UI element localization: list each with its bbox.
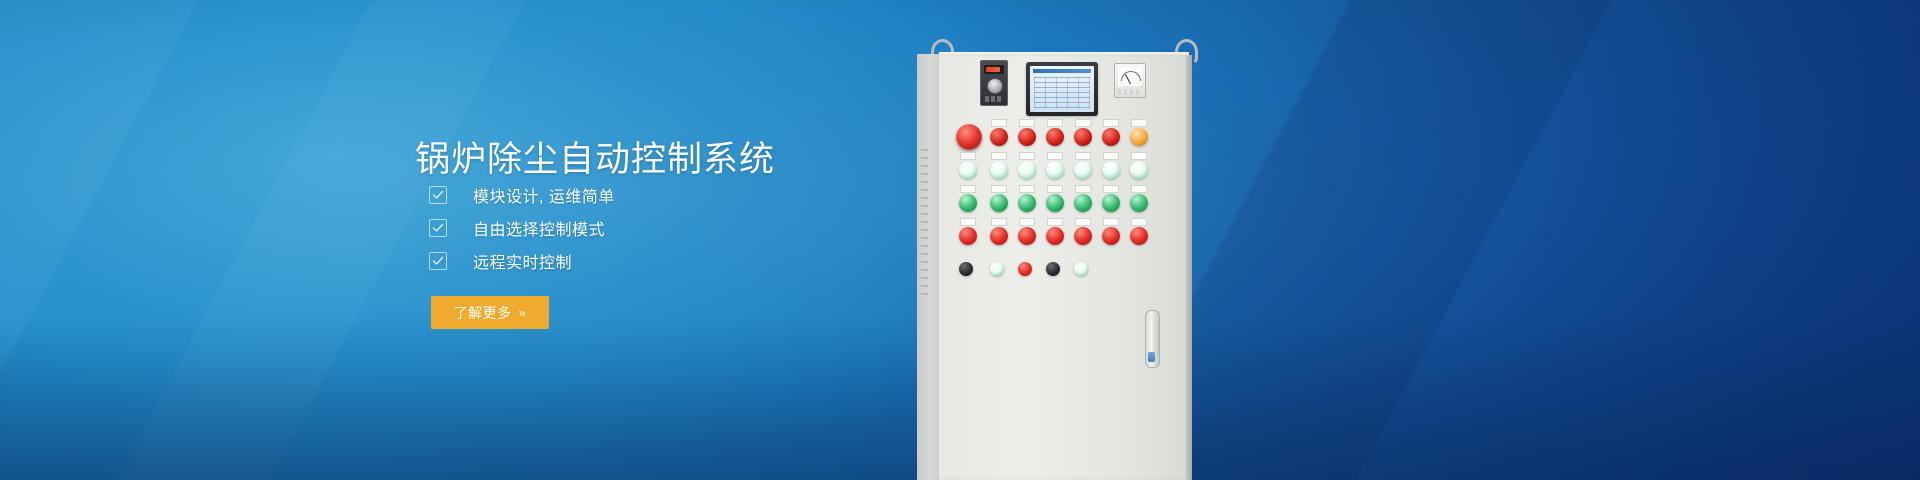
hmi-table-columns — [1034, 77, 1090, 108]
feature-label: 自由选择控制模式 — [473, 216, 605, 240]
indicator-lamp-mint[interactable] — [1046, 161, 1064, 179]
indicator-lamp-mint[interactable] — [1130, 161, 1148, 179]
indicator-lamp-mint[interactable] — [959, 161, 977, 179]
indicator-lamp-red[interactable] — [1102, 128, 1120, 146]
cabinet-side-panel — [917, 54, 939, 480]
indicator-lamp-mint[interactable] — [1018, 161, 1036, 179]
indicator-lamp-red[interactable] — [1046, 227, 1064, 245]
door-handle-lock[interactable] — [1145, 310, 1160, 368]
gauge-scale-arc — [1121, 71, 1141, 81]
banner-content: 锅炉除尘自动控制系统 模块设计, 运维简单 自由选择控制模式 — [415, 0, 935, 480]
indicator-lamp-mint[interactable] — [1074, 262, 1088, 276]
check-square-icon — [429, 252, 447, 270]
emergency-stop-button[interactable] — [956, 124, 982, 150]
indicator-lamp-red[interactable] — [1018, 128, 1036, 146]
learn-more-button[interactable]: 了解更多 » — [431, 296, 549, 329]
inverter-segment-readout — [984, 65, 1004, 74]
feature-label: 模块设计, 运维简单 — [473, 183, 615, 207]
chevron-right-icon: » — [519, 305, 527, 320]
check-square-icon — [429, 186, 447, 204]
indicator-lamp-red[interactable] — [1074, 128, 1092, 146]
inverter-knob-icon — [987, 78, 1003, 94]
lock-icon — [1148, 352, 1155, 362]
indicator-lamp-red[interactable] — [1130, 227, 1148, 245]
feature-label: 远程实时控制 — [473, 249, 572, 273]
indicator-lamp-red[interactable] — [1018, 262, 1032, 276]
indicator-lamp-green[interactable] — [959, 194, 977, 212]
list-item: 自由选择控制模式 — [429, 211, 615, 244]
analog-gauge — [1114, 63, 1146, 98]
check-square-icon — [429, 219, 447, 237]
list-item: 模块设计, 运维简单 — [429, 178, 615, 211]
indicator-lamp-mint[interactable] — [1102, 161, 1120, 179]
indicator-lamp-red[interactable] — [1018, 227, 1036, 245]
feature-list: 模块设计, 运维简单 自由选择控制模式 远程实时控制 — [429, 178, 615, 277]
indicator-lamp-green[interactable] — [1130, 194, 1148, 212]
indicator-lamp-red[interactable] — [990, 227, 1008, 245]
indicator-lamp-green[interactable] — [990, 194, 1008, 212]
indicator-lamp-mint[interactable] — [990, 262, 1004, 276]
indicator-lamp-green[interactable] — [1018, 194, 1036, 212]
indicator-lamp-mint[interactable] — [1074, 161, 1092, 179]
frequency-inverter-display — [980, 60, 1008, 106]
control-cabinet-image — [900, 0, 1360, 480]
indicator-lamp-green[interactable] — [1102, 194, 1120, 212]
indicator-lamp-green[interactable] — [1074, 194, 1092, 212]
cabinet-front-door — [939, 55, 1189, 480]
indicator-lamp-green[interactable] — [1046, 194, 1064, 212]
selector-knob-black[interactable] — [1046, 262, 1060, 276]
indicator-lamp-amber[interactable] — [1130, 128, 1148, 146]
indicator-lamp-red[interactable] — [990, 128, 1008, 146]
hmi-touchscreen — [1026, 62, 1098, 116]
indicator-lamp-red[interactable] — [1074, 227, 1092, 245]
gauge-face — [1118, 67, 1142, 86]
cabinet-right-edge — [1186, 55, 1192, 480]
page-title: 锅炉除尘自动控制系统 — [415, 131, 775, 182]
indicator-lamp-mint[interactable] — [990, 161, 1008, 179]
inverter-keypad — [985, 96, 1003, 102]
selector-knob-black[interactable] — [959, 262, 973, 276]
gauge-label-strip — [1118, 89, 1142, 95]
list-item: 远程实时控制 — [429, 244, 615, 277]
learn-more-label: 了解更多 — [454, 303, 512, 323]
hmi-screen — [1030, 66, 1094, 112]
hmi-title-bar — [1033, 69, 1091, 73]
indicator-lamp-red[interactable] — [1102, 227, 1120, 245]
indicator-lamp-red[interactable] — [959, 227, 977, 245]
indicator-lamp-red[interactable] — [1046, 128, 1064, 146]
hero-banner: 锅炉除尘自动控制系统 模块设计, 运维简单 自由选择控制模式 — [0, 0, 1920, 480]
